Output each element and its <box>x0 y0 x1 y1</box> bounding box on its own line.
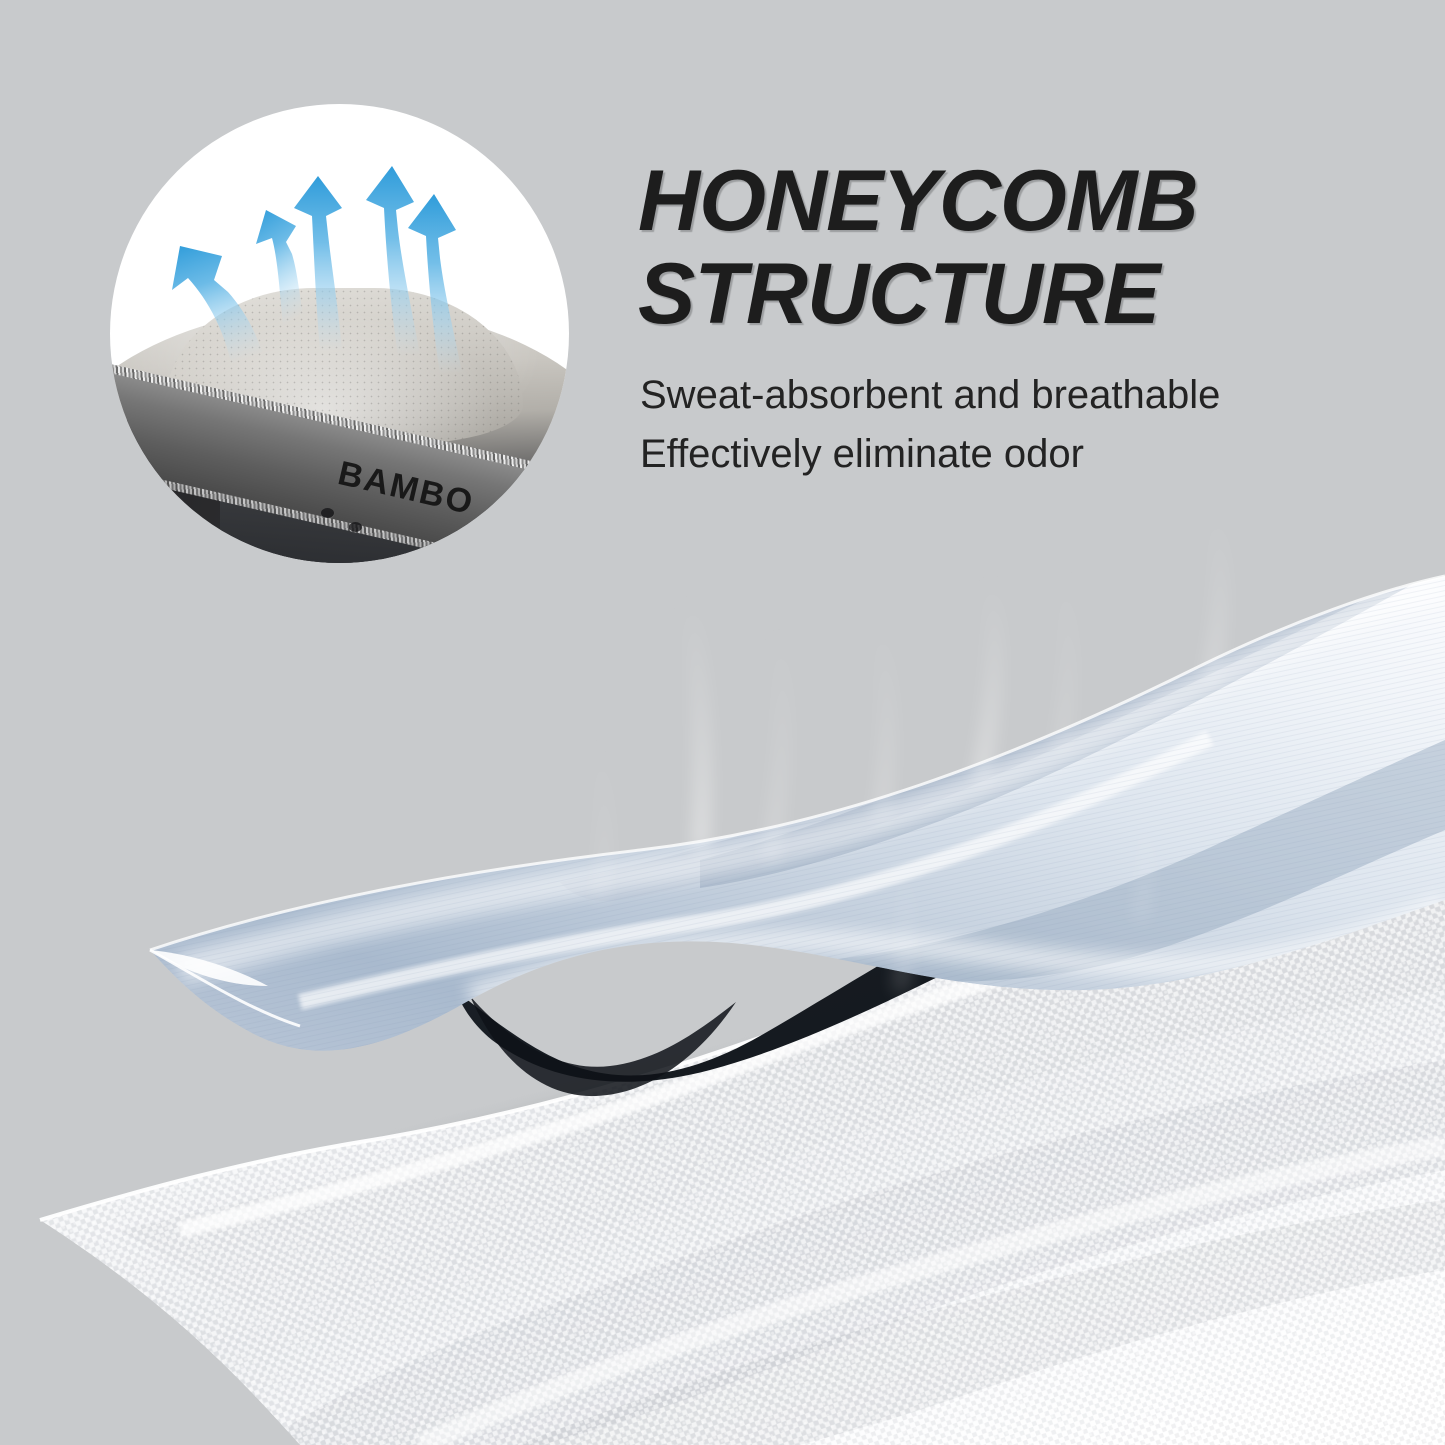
title-line-1: HONEYCOMB <box>638 155 1378 248</box>
subtitle-line-1: Sweat-absorbent and breathable <box>640 366 1400 425</box>
airflow-arrow-1 <box>172 246 290 376</box>
airflow-arrow-4 <box>366 166 420 356</box>
product-feature-graphic: BAMBO <box>0 0 1445 1445</box>
title-line-2: STRUCTURE <box>638 248 1378 341</box>
fabric-layers-illustration <box>0 430 1445 1445</box>
page-title: HONEYCOMB STRUCTURE <box>638 155 1378 341</box>
